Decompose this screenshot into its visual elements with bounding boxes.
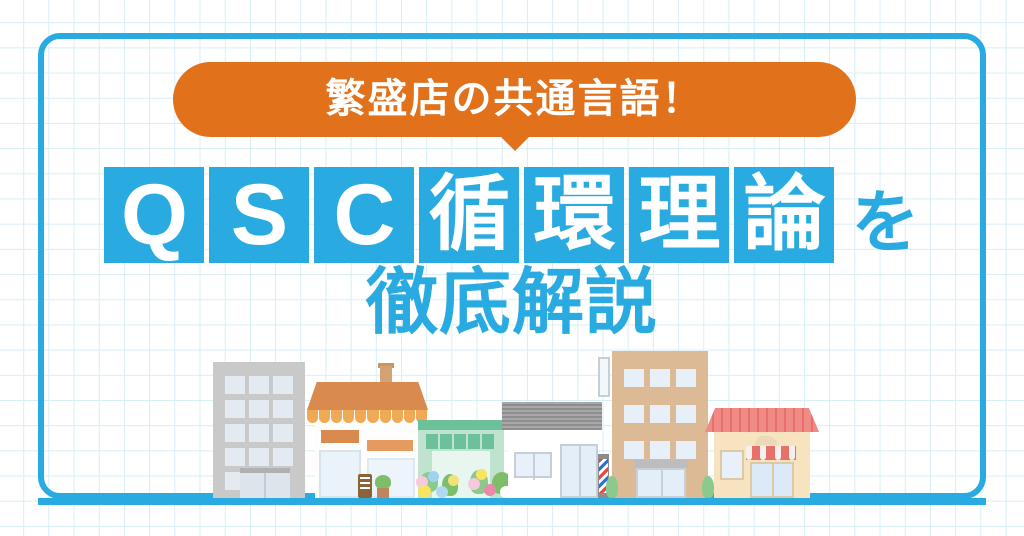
headline-box-kan: 環 [524,167,624,263]
shop-window [514,452,552,478]
window [249,376,269,394]
window [273,448,293,466]
window [225,400,245,418]
roof-dormer [755,436,777,445]
street-tree [606,476,618,498]
flower-display-left [414,466,466,498]
sandwich-board-sign [358,474,372,498]
shop-glass-door [750,462,794,498]
flower [484,484,496,496]
entrance-door [240,468,290,498]
entrance-canopy [634,460,688,468]
window [225,448,245,466]
red-roof-shop [714,430,810,498]
window [225,376,245,394]
shop-sign-left [321,430,359,443]
headline-box-q: Q [104,167,204,263]
flower [436,486,448,498]
headline-box-ri: 理 [629,167,729,263]
potted-plant-foliage [375,475,391,489]
entrance-door [636,468,686,498]
banner-pointer-tail [500,136,530,151]
window [273,424,293,442]
chimney [380,366,392,384]
potted-plant-pot [377,488,389,498]
headline-box-c: C [314,167,414,263]
window [676,405,696,423]
shop-facade-band [418,420,504,430]
orange-banner: 繁盛店の共通言語！ [173,62,856,137]
window [676,441,696,459]
gray-office-building [213,362,305,498]
striped-awning [746,446,796,460]
window [650,369,670,387]
window [624,369,644,387]
window [650,441,670,459]
flower [428,471,439,482]
window [273,400,293,418]
flower [448,475,459,486]
barber-shop [508,418,596,498]
shop-window-left [319,450,361,498]
window [624,405,644,423]
orange-roof-shop [315,408,420,498]
tiled-roof [705,408,819,432]
window [273,376,293,394]
shop-awning [426,434,496,449]
flower [476,469,487,480]
headline-line-2: 徹底解説 [0,267,1024,339]
townscape-illustration [0,336,1024,536]
window [676,369,696,387]
shop-shutter-awning [502,402,602,430]
shop-sign-right [367,440,413,451]
flower [468,478,480,490]
window [650,405,670,423]
headline-line-1: Q S C 循 環 理 論 を [0,167,1024,263]
orange-banner-body: 繁盛店の共通言語！ [173,62,856,137]
roof-valance [307,410,428,423]
banner-text: 繁盛店の共通言語！ [326,79,704,119]
window [249,400,269,418]
window [225,424,245,442]
ground-line [38,498,986,505]
headline-suffix-wo: を [851,189,919,263]
tan-office-building [612,351,708,498]
shop-window-right [367,458,415,498]
shop-roof [307,382,428,410]
headline-box-jun: 循 [419,167,519,263]
flower [418,485,431,498]
headline-box-s: S [209,167,309,263]
window [249,448,269,466]
vertical-signboard [598,357,610,397]
shop-window [720,450,744,480]
headline-box-ron: 論 [734,167,834,263]
street-tree [702,476,714,498]
green-flower-shop [418,420,504,498]
shop-glass-door [560,444,598,498]
window [249,424,269,442]
window [624,441,644,459]
